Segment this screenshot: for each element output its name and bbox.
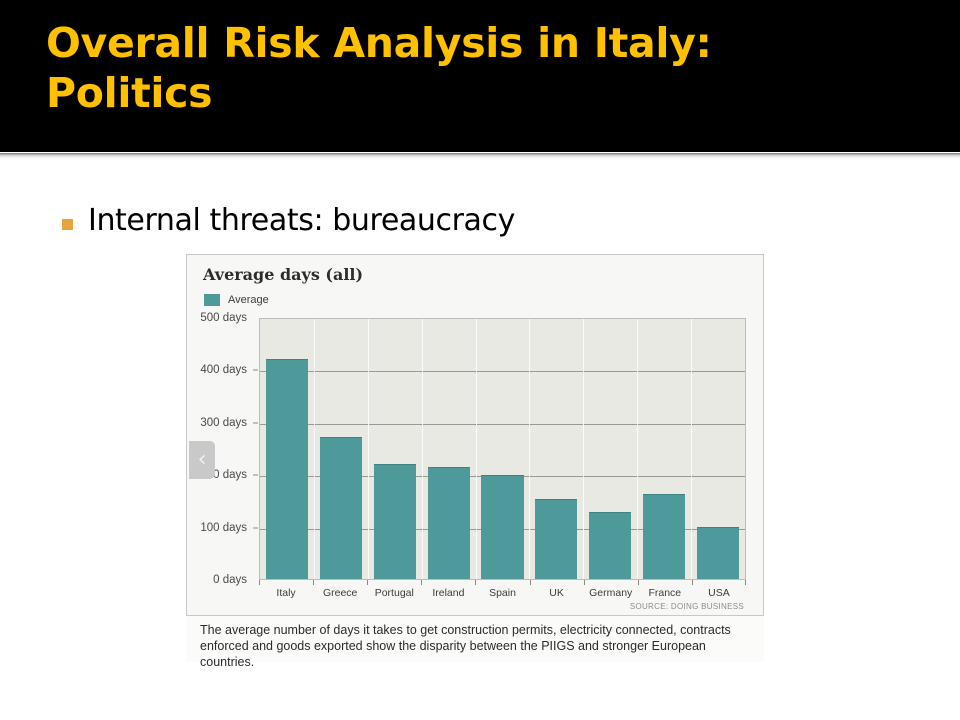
page-title: Overall Risk Analysis in Italy: Politics <box>46 18 906 118</box>
legend-swatch-icon <box>204 294 220 306</box>
y-axis-tick-label: 0 days <box>213 574 247 586</box>
y-axis-tick <box>253 422 258 423</box>
x-axis-tick-label: Ireland <box>421 580 475 606</box>
x-axis-tick-label: Portugal <box>367 580 421 606</box>
bar-italy[interactable] <box>266 359 308 579</box>
bar-germany[interactable] <box>589 512 631 579</box>
bar-ireland[interactable] <box>428 467 470 579</box>
x-axis-tick-label: UK <box>530 580 584 606</box>
chart-legend: Average <box>204 294 269 306</box>
x-axis-tick-label: Italy <box>259 580 313 606</box>
bar-spain[interactable] <box>481 475 523 579</box>
previous-arrow-icon[interactable]: ‹ <box>189 441 215 479</box>
bar-slot <box>637 319 691 579</box>
y-axis-tick <box>253 370 258 371</box>
chart-caption: The average number of days it takes to g… <box>200 622 745 670</box>
y-axis-tick-label: 300 days <box>200 417 247 429</box>
bar-slot <box>260 319 314 579</box>
bar-france[interactable] <box>643 494 685 579</box>
y-axis-tick-label: 500 days <box>200 312 247 324</box>
y-axis-tick <box>253 475 258 476</box>
chart-image-card: Average days (all) Average 500 days400 d… <box>186 254 764 662</box>
legend-entry-label: Average <box>228 294 269 306</box>
bar-slot <box>476 319 530 579</box>
bullet-item-label: Internal threats: bureaucracy <box>88 203 515 239</box>
y-axis-tick-label: 400 days <box>200 364 247 376</box>
bar-portugal[interactable] <box>374 464 416 579</box>
bar-slot <box>368 319 422 579</box>
bar-uk[interactable] <box>535 499 577 579</box>
bar-slot <box>583 319 637 579</box>
title-divider <box>0 153 960 159</box>
bar-greece[interactable] <box>320 437 362 579</box>
x-axis-tick-label: Spain <box>475 580 529 606</box>
bar-slot <box>529 319 583 579</box>
bar-slot <box>691 319 745 579</box>
bar-series <box>260 319 745 579</box>
chart-frame: Average days (all) Average 500 days400 d… <box>186 254 764 616</box>
slide-title-band: Overall Risk Analysis in Italy: Politics <box>0 0 960 152</box>
y-axis-tick <box>253 527 258 528</box>
chart-title: Average days (all) <box>203 265 363 284</box>
plot-area <box>259 318 746 580</box>
bullet-list-item: Internal threats: bureaucracy <box>62 203 515 239</box>
x-axis-tick-label: Greece <box>313 580 367 606</box>
y-axis-tick-label: 100 days <box>200 522 247 534</box>
bar-slot <box>314 319 368 579</box>
bar-slot <box>422 319 476 579</box>
square-bullet-icon <box>62 219 73 230</box>
bar-usa[interactable] <box>697 527 739 579</box>
chart-source-label: SOURCE: DOING BUSINESS <box>630 602 744 611</box>
